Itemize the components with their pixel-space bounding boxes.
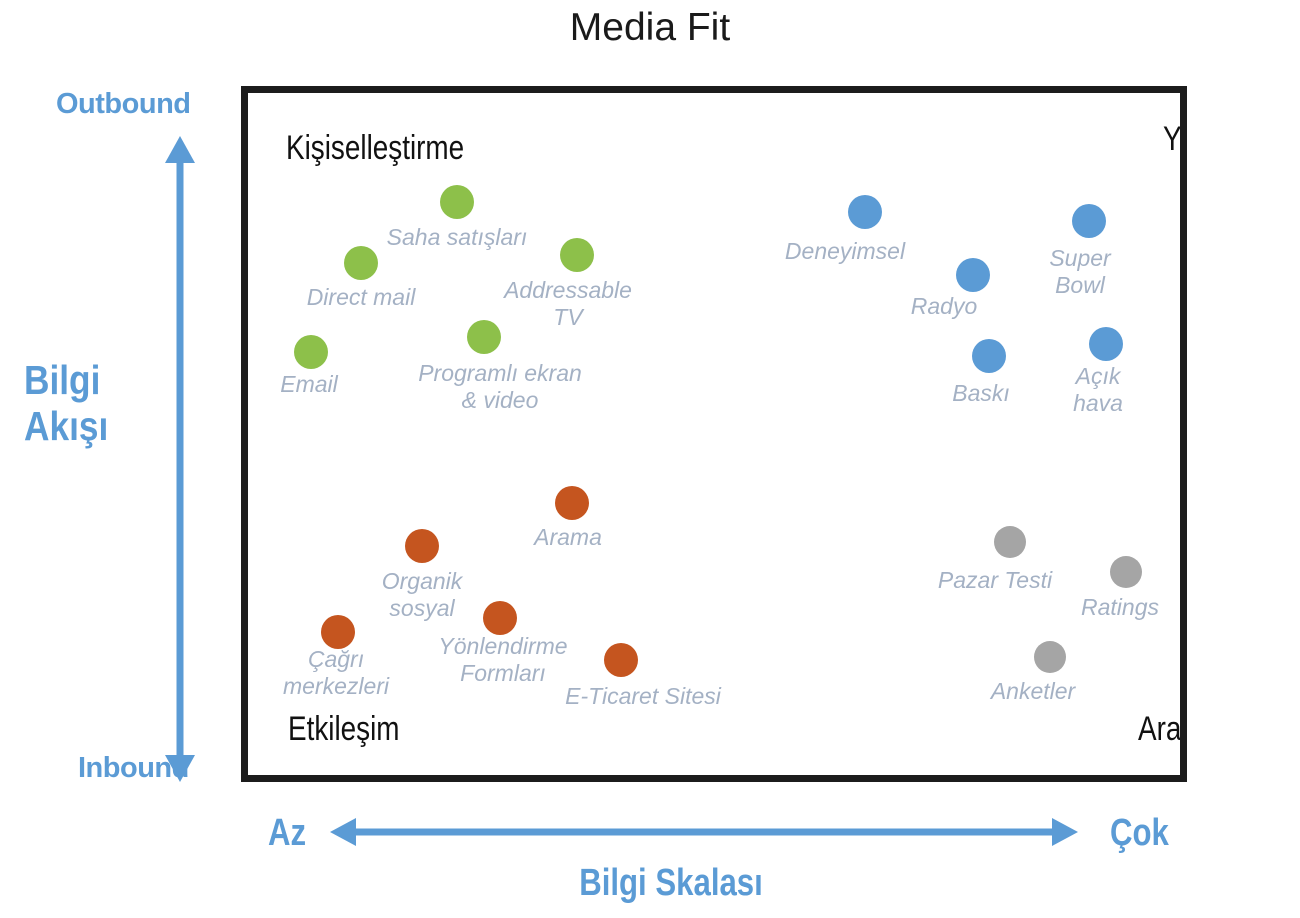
data-point	[294, 335, 328, 369]
quadrant-label-bottom-left: Etkileşim	[288, 710, 400, 749]
data-point-label: Çağrı merkezleri	[283, 646, 389, 700]
data-point-label: Anketler	[991, 678, 1075, 705]
media-fit-diagram: Media Fit Outbound Inbound Bilgi Akışı A…	[0, 0, 1300, 918]
x-axis-title: Bilgi Skalası	[579, 862, 763, 905]
data-point	[560, 238, 594, 272]
data-point	[405, 529, 439, 563]
y-axis-max-label: Outbound	[56, 88, 191, 121]
data-point	[1034, 641, 1066, 673]
data-point-label: Pazar Testi	[938, 567, 1052, 594]
data-point	[321, 615, 355, 649]
horizontal-double-arrow-icon	[330, 814, 1078, 850]
data-point	[555, 486, 589, 520]
data-point	[1072, 204, 1106, 238]
data-point-label: Email	[280, 371, 338, 398]
data-point-label: Baskı	[952, 380, 1010, 407]
data-point-label: Yönlendirme Formları	[438, 633, 567, 687]
data-point-label: Ratings	[1081, 594, 1159, 621]
quadrant-label-bottom-right: Araştırma	[1138, 710, 1187, 749]
data-point	[1110, 556, 1142, 588]
data-point	[956, 258, 990, 292]
data-point	[440, 185, 474, 219]
data-point	[848, 195, 882, 229]
data-point	[972, 339, 1006, 373]
data-point-label: Arama	[534, 524, 602, 551]
vertical-double-arrow-icon	[162, 136, 198, 782]
data-point-label: Addressable TV	[504, 277, 632, 331]
data-point	[604, 643, 638, 677]
data-point-label: Açık hava	[1057, 363, 1139, 417]
data-point-label: E-Ticaret Sitesi	[565, 683, 721, 710]
data-point-label: Deneyimsel	[785, 238, 905, 265]
x-axis-min-label: Az	[268, 812, 306, 855]
x-axis-max-label: Çok	[1110, 812, 1169, 855]
data-point-label: Organik sosyal	[382, 568, 463, 622]
quadrant-label-top-left: Kişiselleştirme	[286, 129, 464, 168]
data-point	[467, 320, 501, 354]
data-point	[1089, 327, 1123, 361]
page-title: Media Fit	[0, 6, 1300, 50]
data-point-label: Programlı ekran & video	[418, 360, 582, 414]
plot-area: Kişiselleştirme Yayın Etkileşim Araştırm…	[241, 86, 1187, 782]
data-point-label: Radyo	[911, 293, 977, 320]
data-point-label: Saha satışları	[387, 224, 528, 251]
data-point-label: Super Bowl	[1049, 245, 1110, 299]
data-point	[994, 526, 1026, 558]
quadrant-label-top-right: Yayın	[1163, 120, 1187, 159]
data-point-label: Direct mail	[307, 284, 416, 311]
y-axis-title: Bilgi Akışı	[24, 357, 108, 449]
data-point	[344, 246, 378, 280]
data-point	[483, 601, 517, 635]
